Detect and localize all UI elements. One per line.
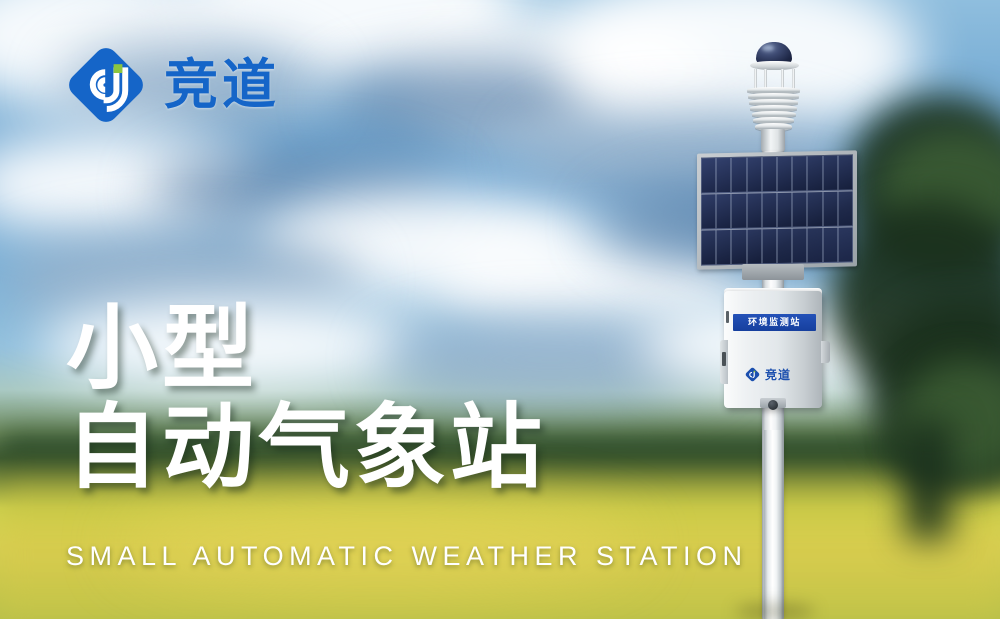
brand-logo[interactable]: 竞道 bbox=[66, 45, 280, 125]
jingdao-diamond-logo-icon bbox=[66, 45, 146, 125]
tree-trunk bbox=[905, 420, 951, 540]
product-banner: 环境监测站 竞道 bbox=[0, 0, 1000, 619]
brand-name: 竞道 bbox=[164, 58, 280, 112]
headline-line-2: 自动气象站 bbox=[66, 399, 546, 498]
headline-line-1: 小型 bbox=[66, 300, 546, 399]
subtitle: SMALL AUTOMATIC WEATHER STATION bbox=[66, 541, 748, 572]
headline-block: 小型 自动气象站 bbox=[66, 300, 546, 499]
